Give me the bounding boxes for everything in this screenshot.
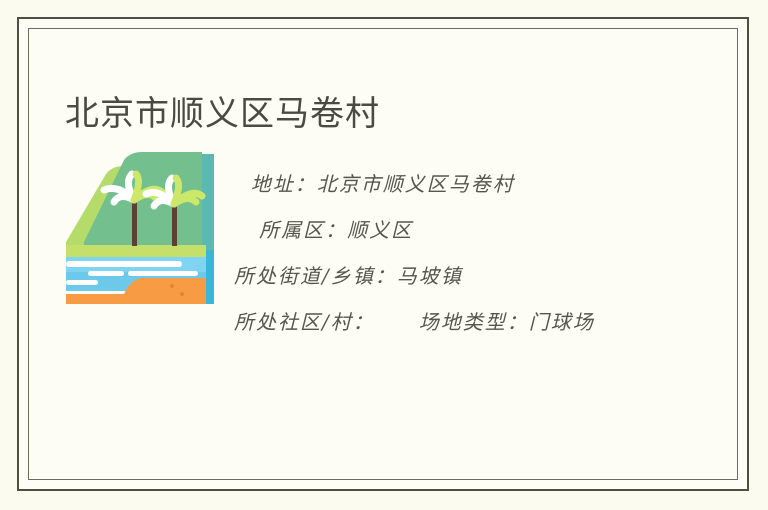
card-frame-outer: 北京市顺义区马卷村 (17, 17, 749, 491)
beach-island-illustration (62, 146, 214, 304)
card-frame-inner: 北京市顺义区马卷村 (28, 28, 738, 480)
page-title: 北京市顺义区马卷村 (65, 92, 380, 136)
page-root: 北京市顺义区马卷村 (0, 0, 768, 510)
venue-details-text: 地址：北京市顺义区马卷村 所属区：顺义区 所处街道/乡镇：马坡镇 所处社区/村：… (234, 161, 674, 345)
